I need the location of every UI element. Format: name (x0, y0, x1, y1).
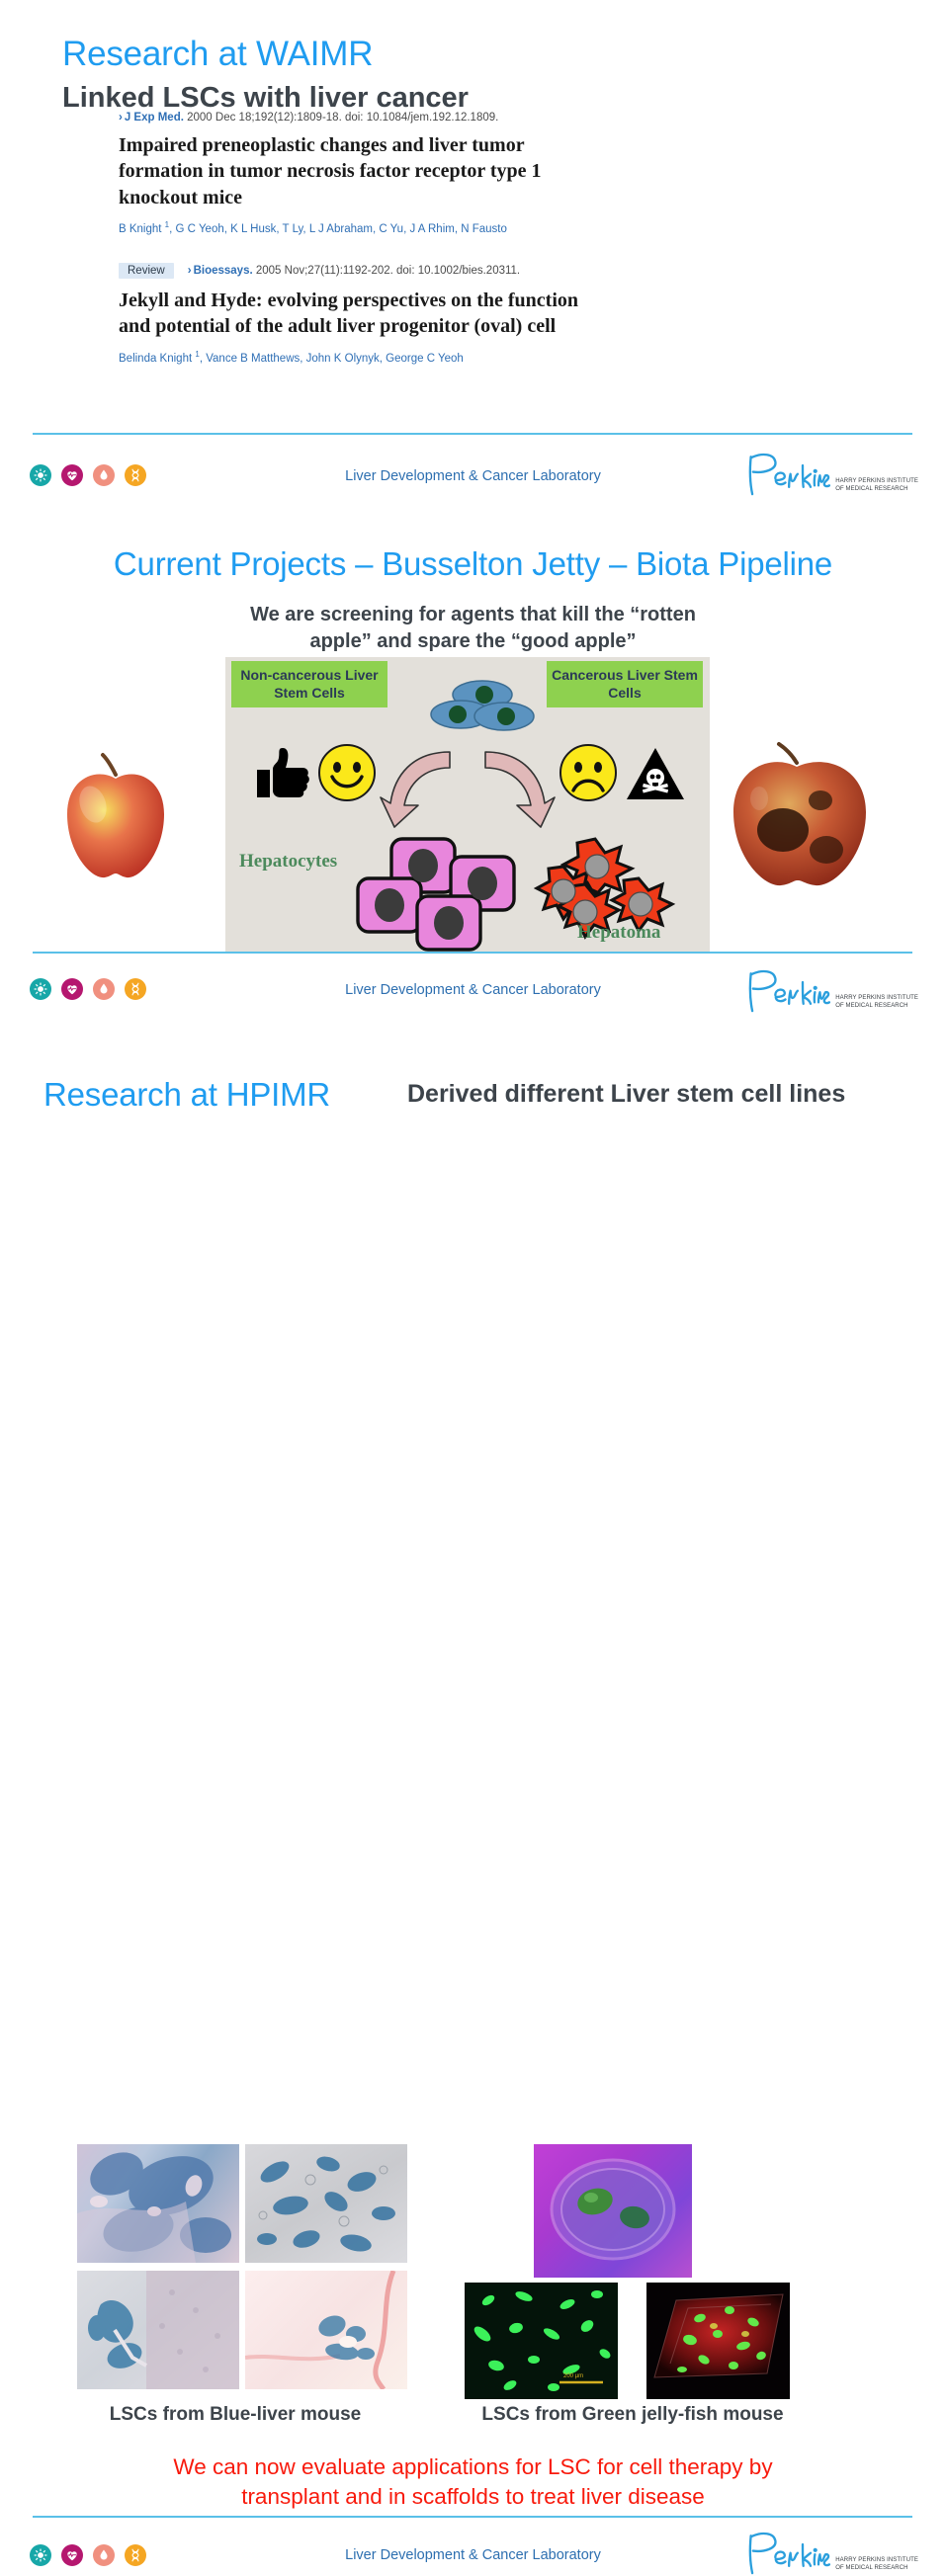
footer-divider (33, 2516, 912, 2518)
perkins-logo: HARRY PERKINS INSTITUTE OF MEDICAL RESEA… (743, 2529, 918, 2576)
eye-left (574, 762, 582, 773)
slide2-subtitle-text: We are screening for agents that kill th… (236, 602, 711, 655)
eye-right (594, 762, 602, 773)
citation-details: 2005 Nov;27(11):1192-202. doi: 10.1002/b… (256, 265, 520, 277)
conclusion-text: We can now evaluate applications for LSC… (128, 2452, 819, 2513)
label-non-cancerous-lsc: Non-cancerous Liver Stem Cells (231, 661, 387, 707)
gfp-3d-scaffold-image (646, 2283, 790, 2399)
lacz-cultured-cells-image (245, 2144, 407, 2263)
conclusion-statement: We can now evaluate applications for LSC… (0, 2452, 946, 2513)
caption-green-jellyfish: LSCs from Green jelly-fish mouse (435, 2404, 830, 2426)
skull-warning-icon (625, 746, 686, 801)
logo-line-2: OF MEDICAL RESEARCH (835, 2565, 918, 2573)
citation-details: 2000 Dec 18;192(12):1809-18. doi: 10.108… (187, 112, 498, 124)
author-list-1[interactable]: B Knight 1, G C Yeoh, K L Husk, T Ly, L … (119, 220, 613, 235)
logo-line-2: OF MEDICAL RESEARCH (835, 1003, 918, 1011)
good-apple-image (42, 749, 190, 887)
label-cancerous-lsc: Cancerous Liver Stem Cells (547, 661, 703, 707)
article-title-2[interactable]: Jekyll and Hyde: evolving perspectives o… (119, 288, 613, 340)
citation-source-line-2[interactable]: Review›Bioessays. 2005 Nov;27(11):1192-2… (119, 263, 613, 279)
perkins-signature-icon (743, 2529, 830, 2576)
slide1-subtitle: Linked LSCs with liver cancer (62, 83, 469, 114)
chevron-right-icon: › (119, 112, 123, 124)
gfp-petri-dish-image (534, 2144, 692, 2278)
label-hepatocytes: Hepatocytes (239, 851, 337, 873)
perkins-logo: HARRY PERKINS INSTITUTE OF MEDICAL RESEA… (743, 450, 918, 497)
perkins-signature-icon (743, 966, 830, 1014)
stem-cell-cluster-icon (428, 675, 537, 736)
citation-source-line-1[interactable]: ›J Exp Med. 2000 Dec 18;192(12):1809-18.… (119, 112, 613, 124)
hepatocyte-cells-icon (352, 835, 530, 952)
rotten-apple-image (710, 739, 888, 897)
slide-current-projects: Current Projects – Busselton Jetty – Bio… (0, 514, 946, 1033)
thumbs-up-icon (253, 748, 310, 799)
review-badge: Review (119, 263, 174, 279)
journal-name[interactable]: J Exp Med. (125, 112, 184, 124)
logo-line-1: HARRY PERKINS INSTITUTE (835, 478, 918, 486)
slide-research-at-waimr: Research at WAIMR Linked LSCs with liver… (0, 0, 946, 514)
slide-research-at-hpimr: Research at HPIMR Derived different Live… (0, 1033, 946, 1605)
perkins-logo-text: HARRY PERKINS INSTITUTE OF MEDICAL RESEA… (835, 2557, 918, 2576)
footer-divider (33, 952, 912, 954)
article-title-1[interactable]: Impaired preneoplastic changes and liver… (119, 132, 613, 210)
slide2-title: Current Projects – Busselton Jetty – Bio… (0, 547, 946, 582)
curved-arrow-right-icon (473, 748, 557, 832)
chevron-right-icon: › (188, 265, 192, 277)
lacz-liver-section-image (77, 2144, 239, 2263)
curved-arrow-left-icon (379, 748, 463, 832)
footer-divider (33, 433, 912, 435)
journal-name[interactable]: Bioessays. (194, 265, 253, 277)
perkins-logo-text: HARRY PERKINS INSTITUTE OF MEDICAL RESEA… (835, 478, 918, 497)
slide3-title: Research at HPIMR (43, 1078, 330, 1113)
citation-card-2[interactable]: Review›Bioessays. 2005 Nov;27(11):1192-2… (119, 263, 613, 365)
slide3-subtitle: Derived different Liver stem cell lines (407, 1081, 845, 1108)
citation-card-1[interactable]: ›J Exp Med. 2000 Dec 18;192(12):1809-18.… (119, 112, 613, 235)
label-hepatoma: Hepatoma (577, 922, 660, 944)
smiley-sad-icon (559, 744, 617, 801)
caption-blue-liver: LSCs from Blue-liver mouse (57, 2404, 413, 2426)
scale-bar-label: 200 µm (563, 2373, 583, 2379)
smiley-happy-icon (318, 744, 376, 801)
eye-left (333, 762, 341, 773)
gfp-green-cells-image: 200 µm (465, 2283, 618, 2399)
slide1-title: Research at WAIMR (62, 37, 373, 73)
mouth-frown (571, 778, 605, 795)
lacz-liver-lobule-image (77, 2271, 239, 2389)
author-list-2[interactable]: Belinda Knight 1, Vance B Matthews, John… (119, 350, 613, 365)
logo-line-1: HARRY PERKINS INSTITUTE (835, 995, 918, 1003)
logo-line-2: OF MEDICAL RESEARCH (835, 486, 918, 494)
slide2-subtitle: We are screening for agents that kill th… (0, 602, 946, 655)
perkins-logo: HARRY PERKINS INSTITUTE OF MEDICAL RESEA… (743, 966, 918, 1014)
perkins-logo-text: HARRY PERKINS INSTITUTE OF MEDICAL RESEA… (835, 995, 918, 1014)
lacz-eosin-section-image (245, 2271, 407, 2389)
eye-right (353, 762, 361, 773)
apple-concept-diagram: Non-cancerous Liver Stem Cells Cancerous… (225, 657, 710, 952)
perkins-signature-icon (743, 450, 830, 497)
logo-line-1: HARRY PERKINS INSTITUTE (835, 2557, 918, 2565)
mouth-smile (330, 774, 364, 791)
